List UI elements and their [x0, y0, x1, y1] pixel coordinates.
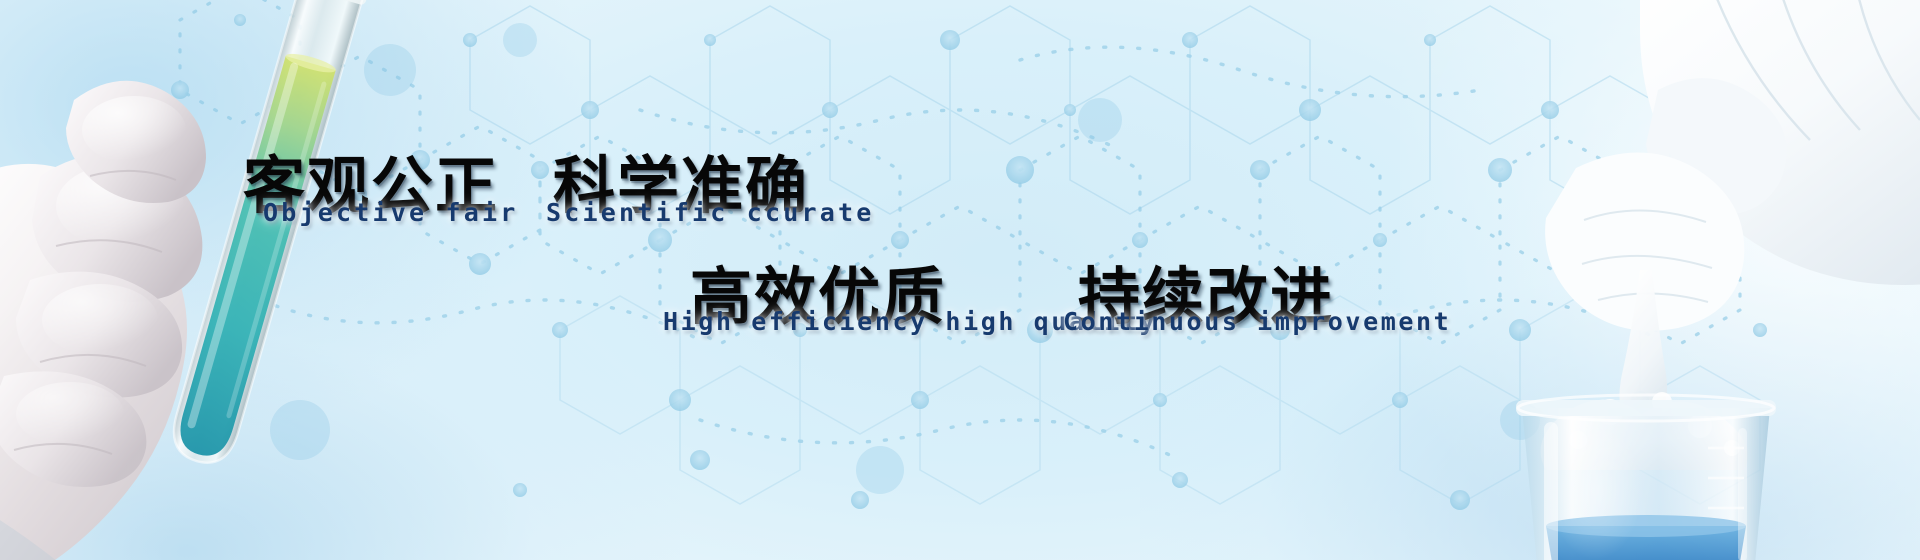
- slogan-en-continuous-improvement: Continuous improvement: [1063, 307, 1451, 336]
- slogan-en-scientific-accurate: Scientific ccurate: [546, 198, 875, 227]
- lab-hero-banner: 客观公正 Objective fair 科学准确 Scientific ccur…: [0, 0, 1920, 560]
- slogan-block: 客观公正 Objective fair 科学准确 Scientific ccur…: [0, 0, 1920, 560]
- slogan-en-objective-fair: Objective fair: [263, 198, 519, 227]
